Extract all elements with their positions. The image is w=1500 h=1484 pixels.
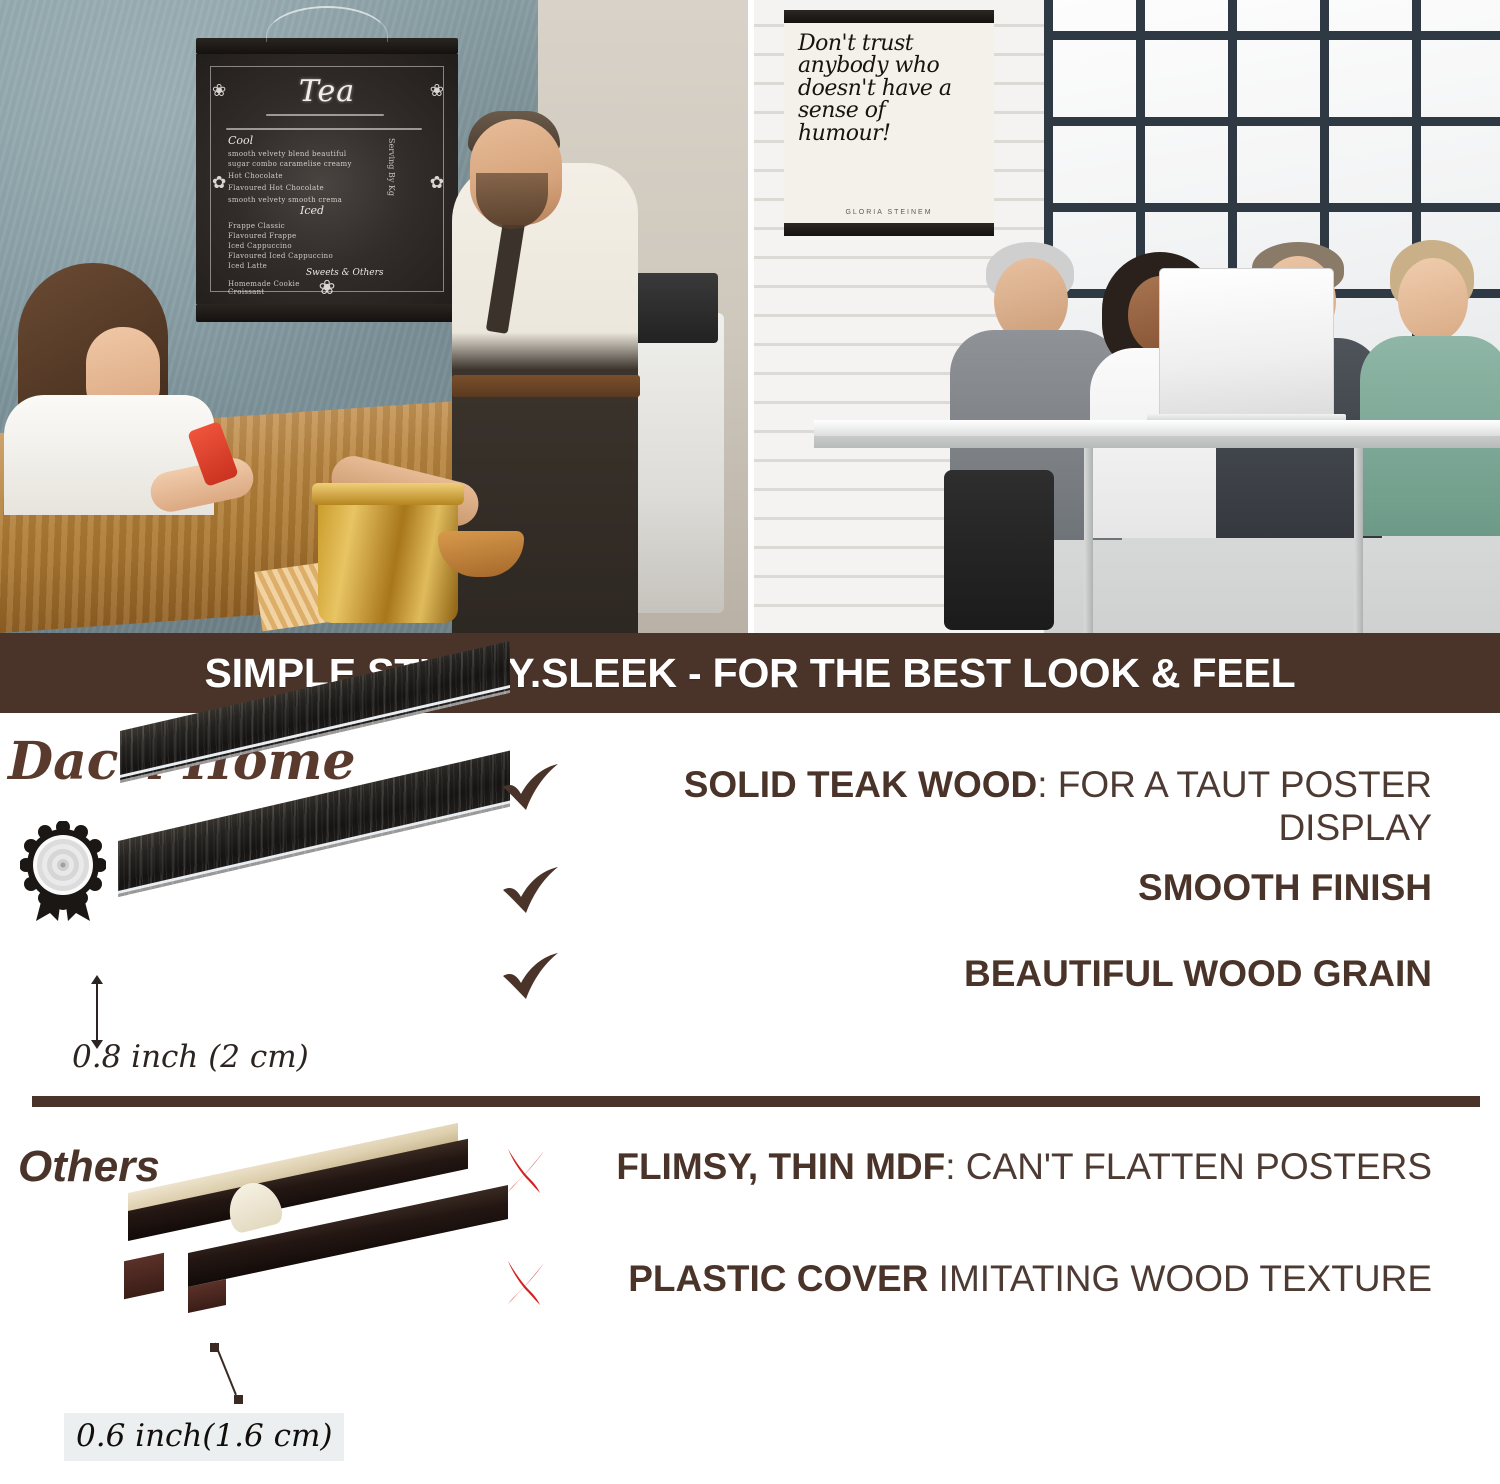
- others-thickness-label: 0.6 inch(1.6 cm): [64, 1413, 344, 1461]
- poster-item: Hot Chocolate: [228, 172, 283, 180]
- quote-rail-bottom: [784, 223, 994, 236]
- poster-title: Tea: [196, 74, 458, 109]
- chalk-leaf-icon: ✿: [212, 174, 226, 191]
- poster-item: Homemade Cookie: [228, 280, 300, 288]
- check-icon: [500, 950, 574, 1006]
- table-leg: [1354, 448, 1363, 633]
- pro-feature-item: SMOOTH FINISH: [500, 864, 1480, 920]
- pro-feature-lead: BEAUTIFUL WOOD GRAIN: [964, 953, 1432, 994]
- barista-belt: [452, 375, 640, 397]
- poster-section-cool: Cool: [228, 134, 253, 147]
- pro-feature-text: SMOOTH FINISH: [574, 864, 1480, 909]
- poster-item: Frappe Classic: [228, 222, 285, 230]
- photo-office-scene: Don't trust anybody who doesn't have a s…: [754, 0, 1500, 633]
- pro-feature-rest: : FOR A TAUT POSTER DISPLAY: [1037, 764, 1432, 848]
- chalkboard-poster-hanger: ❀ ❀ ✿ ✿ ❀ Tea Cool smooth velvety blend …: [196, 38, 458, 322]
- section-divider: [32, 1096, 1480, 1107]
- cross-icon: [500, 1143, 574, 1199]
- pro-feature-text: SOLID TEAK WOOD: FOR A TAUT POSTER DISPL…: [574, 761, 1480, 850]
- poster-section-iced: Iced: [300, 204, 324, 217]
- brass-coffee-pot: [318, 491, 458, 623]
- chalk-rule: [226, 128, 422, 130]
- chalk-leaf-icon: ✿: [430, 174, 444, 191]
- poster-item: Croissant: [228, 288, 265, 296]
- pro-feature-lead: SMOOTH FINISH: [1138, 867, 1432, 908]
- con-feature-text: PLASTIC COVER IMITATING WOOD TEXTURE: [574, 1255, 1480, 1300]
- mdf-exposed-core-end: [124, 1253, 164, 1300]
- quote-text: Don't trust anybody who doesn't have a s…: [798, 33, 980, 145]
- con-feature-item: FLIMSY, THIN MDF: CAN'T FLATTEN POSTERS: [500, 1143, 1480, 1199]
- chalk-leaf-icon: ❀: [319, 278, 336, 298]
- laptop-screen: [1159, 268, 1334, 418]
- quote-poster-hanger: Don't trust anybody who doesn't have a s…: [784, 10, 994, 236]
- photo-strip: ❀ ❀ ✿ ✿ ❀ Tea Cool smooth velvety blend …: [0, 0, 1500, 633]
- poster-column-header: Serving By Kg: [387, 138, 396, 196]
- meeting-table-edge: [814, 436, 1500, 448]
- award-rosette-badge: [20, 821, 106, 925]
- pro-feature-item: BEAUTIFUL WOOD GRAIN: [500, 950, 1480, 1006]
- brand-name-others: Others: [18, 1142, 160, 1192]
- comparison-row-others: Others 0.6 inch(1.6 cm) FLIMSY, THI: [0, 1107, 1500, 1484]
- con-feature-item: PLASTIC COVER IMITATING WOOD TEXTURE: [500, 1255, 1480, 1311]
- table-leg: [1084, 448, 1093, 633]
- poster-item: Iced Latte: [228, 262, 267, 270]
- dimension-leader-endpoint: [234, 1395, 243, 1404]
- cross-icon: [500, 1255, 574, 1311]
- poster-item: Flavoured Iced Cappuccino: [228, 252, 333, 260]
- chalk-underline: [266, 114, 384, 116]
- poster-section-sweets: Sweets & Others: [306, 268, 384, 278]
- dimension-leader-line: [214, 1343, 237, 1396]
- person4-head: [1398, 258, 1468, 342]
- con-feature-lead: FLIMSY, THIN MDF: [616, 1146, 945, 1187]
- pro-feature-lead: SOLID TEAK WOOD: [684, 764, 1038, 805]
- quote-author: GLORIA STEINEM: [784, 209, 994, 216]
- quote-poster-paper: Don't trust anybody who doesn't have a s…: [784, 23, 994, 223]
- con-feature-text: FLIMSY, THIN MDF: CAN'T FLATTEN POSTERS: [574, 1143, 1480, 1188]
- meeting-table-top: [814, 420, 1500, 436]
- comparison-row-dacri-home: Dacri Home: [0, 713, 1500, 1096]
- con-feature-lead: PLASTIC COVER: [628, 1258, 928, 1299]
- poster-item: Iced Cappuccino: [228, 242, 292, 250]
- pro-feature-list: SOLID TEAK WOOD: FOR A TAUT POSTER DISPL…: [500, 761, 1480, 1010]
- check-icon: [500, 864, 574, 920]
- poster-item: Flavoured Hot Chocolate: [228, 184, 324, 192]
- headline-banner: SIMPLE.STURDY.SLEEK - FOR THE BEST LOOK …: [0, 633, 1500, 713]
- poster-rail-bottom: [196, 304, 458, 322]
- office-chair: [944, 470, 1054, 630]
- thickness-dimension-arrow: [96, 983, 98, 1041]
- quote-rail-top: [784, 10, 994, 23]
- con-feature-rest: IMITATING WOOD TEXTURE: [928, 1258, 1432, 1299]
- poster-item: Flavoured Frappe: [228, 232, 296, 240]
- pro-feature-item: SOLID TEAK WOOD: FOR A TAUT POSTER DISPL…: [500, 761, 1480, 850]
- con-feature-list: FLIMSY, THIN MDF: CAN'T FLATTEN POSTERS …: [500, 1143, 1480, 1315]
- con-feature-rest: : CAN'T FLATTEN POSTERS: [945, 1146, 1432, 1187]
- chalkboard-poster: ❀ ❀ ✿ ✿ ❀ Tea Cool smooth velvety blend …: [196, 54, 458, 304]
- dacri-thickness-label: 0.8 inch (2 cm): [72, 1039, 309, 1075]
- photo-cafe-scene: ❀ ❀ ✿ ✿ ❀ Tea Cool smooth velvety blend …: [0, 0, 748, 633]
- check-icon: [500, 761, 574, 817]
- pro-feature-text: BEAUTIFUL WOOD GRAIN: [574, 950, 1480, 995]
- comparison-section: Dacri Home: [0, 713, 1500, 1484]
- brass-pot-lid: [312, 483, 464, 505]
